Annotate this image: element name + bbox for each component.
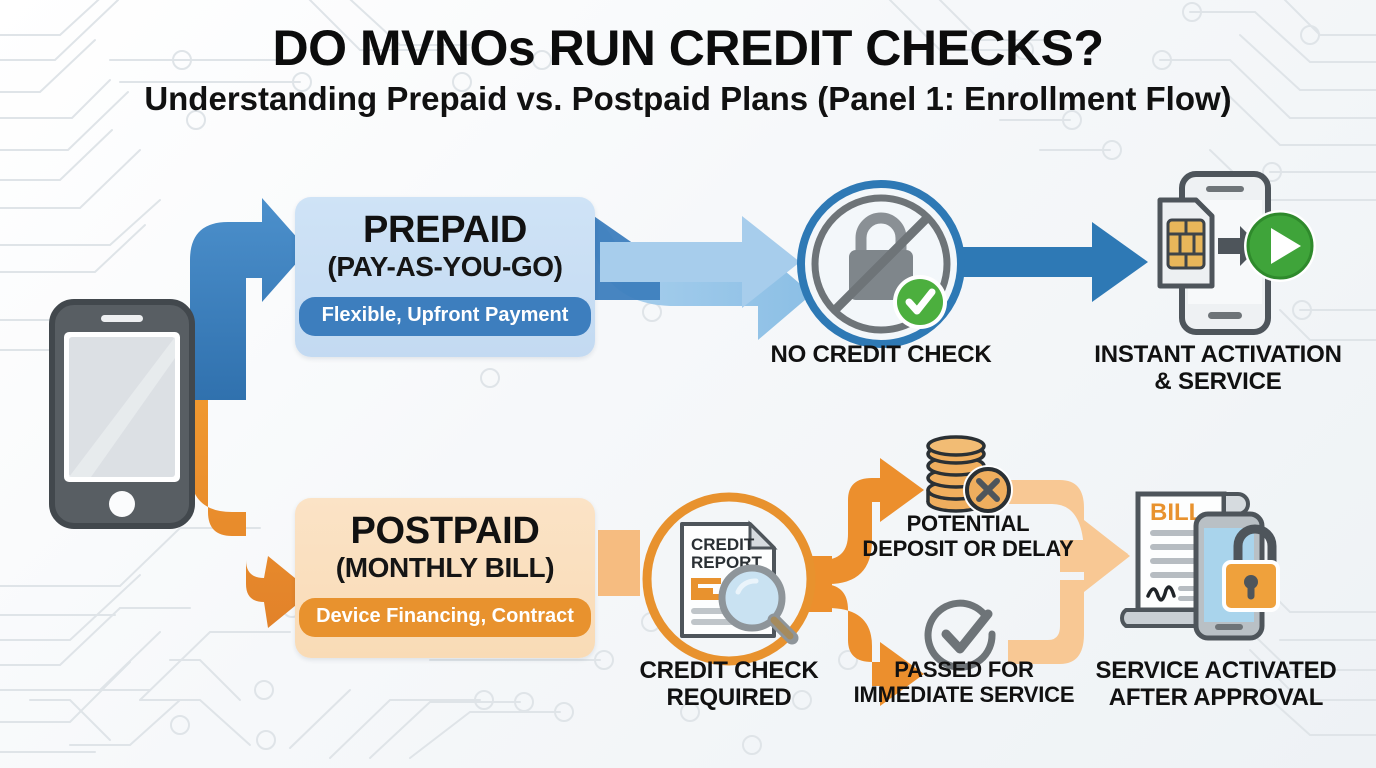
credit-report-magnifier-icon: CREDIT REPORT [638,488,820,670]
credit-check-label-line1: CREDIT CHECK [594,658,864,685]
no-credit-check-label: NO CREDIT CHECK [741,342,1021,369]
title-block: DO MVNOs RUN CREDIT CHECKS? Understandin… [0,22,1376,117]
customer-phone-node [48,298,196,530]
deposit-delay-node [912,432,1018,518]
prepaid-plan-subtitle: (PAY-AS-YOU-GO) [313,252,577,281]
arrow-phone-to-prepaid [190,198,308,400]
passed-service-label-line1: PASSED FOR [838,658,1090,683]
arrow-phone-to-postpaid [190,400,312,628]
prepaid-plan-name: PREPAID [313,211,577,249]
postpaid-card-body: POSTPAID (MONTHLY BILL) [295,498,595,592]
instant-activation-label: INSTANT ACTIVATION & SERVICE [1060,342,1376,396]
postpaid-plan-banner: Device Financing, Contract [299,598,591,637]
credit-check-label: CREDIT CHECK REQUIRED [594,658,864,712]
page-subtitle: Understanding Prepaid vs. Postpaid Plans… [0,81,1376,117]
no-credit-check-icon [795,178,967,350]
service-activated-label-line1: SERVICE ACTIVATED [1056,658,1376,685]
credit-check-node: CREDIT REPORT [638,488,820,670]
no-credit-check-label-line1: NO CREDIT CHECK [741,342,1021,369]
service-activated-node: BILL [1120,486,1312,656]
passed-service-label-line2: IMMEDIATE SERVICE [838,683,1090,708]
bill-phone-unlock-icon: BILL [1120,486,1312,656]
arrow-postpaid-to-creditcheck [598,530,640,596]
credit-report-word-1: CREDIT [691,535,755,554]
page-title: DO MVNOs RUN CREDIT CHECKS? [0,22,1376,75]
deposit-delay-label: POTENTIAL DEPOSIT OR DELAY [840,512,1096,561]
postpaid-plan-name: POSTPAID [313,512,577,550]
postpaid-plan-card[interactable]: POSTPAID (MONTHLY BILL) Device Financing… [295,498,595,658]
postpaid-plan-subtitle: (MONTHLY BILL) [313,553,577,582]
no-credit-check-node [795,178,967,350]
coins-rejected-icon [912,432,1018,518]
credit-check-label-line2: REQUIRED [594,685,864,712]
instant-activation-label-line1: INSTANT ACTIVATION [1060,342,1376,369]
service-activated-label: SERVICE ACTIVATED AFTER APPROVAL [1056,658,1376,712]
infographic-canvas: PREPAID (PAY-AS-YOU-GO) Flexible, Upfron… [0,0,1376,768]
passed-service-label: PASSED FOR IMMEDIATE SERVICE [838,658,1090,707]
service-activated-label-line2: AFTER APPROVAL [1056,685,1376,712]
prepaid-plan-banner: Flexible, Upfront Payment [299,297,591,336]
smartphone-icon [48,298,196,530]
arrow-outcomes-merge [1008,480,1130,664]
deposit-delay-label-line2: DEPOSIT OR DELAY [840,537,1096,562]
instant-activation-label-line2: & SERVICE [1060,369,1376,396]
arrow-nocheck-to-activation [952,222,1148,302]
instant-activation-node [1140,168,1320,340]
prepaid-plan-card[interactable]: PREPAID (PAY-AS-YOU-GO) Flexible, Upfron… [295,197,595,357]
prepaid-card-body: PREPAID (PAY-AS-YOU-GO) [295,197,595,291]
deposit-delay-label-line1: POTENTIAL [840,512,1096,537]
sim-activation-icon [1140,168,1320,340]
